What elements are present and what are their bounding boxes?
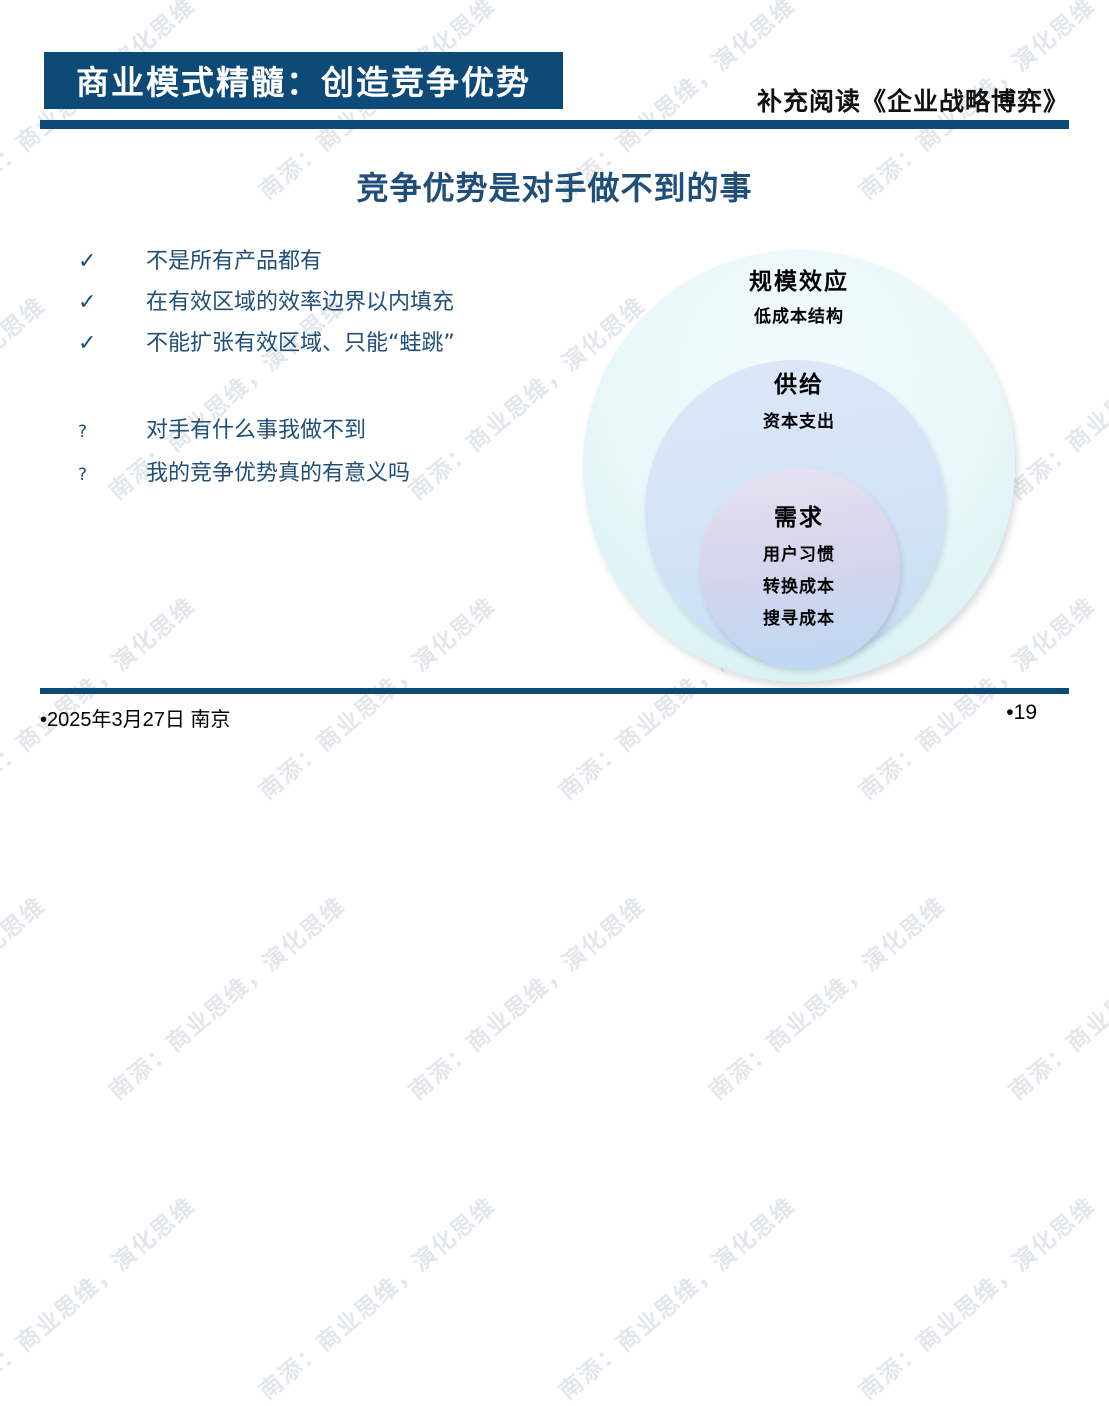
circle-supply-subtitle: 资本支出 xyxy=(583,407,1015,432)
slide-title-box: 商业模式精髓：创造竞争优势 xyxy=(44,52,563,109)
list-item: ? 我的竞争优势真的有意义吗 xyxy=(78,455,548,498)
watermark-text: 南添：商业思维，演化思维 xyxy=(850,1187,1102,1406)
watermark-text: 南添：商业思维，演化思维 xyxy=(0,587,202,806)
page-headline: 竞争优势是对手做不到的事 xyxy=(0,163,1109,209)
watermark-text: 南添：商业思维，演化思维 xyxy=(550,1187,802,1406)
circle-demand-title: 需求 xyxy=(583,498,1015,532)
slide-canvas: 南添：商业思维，演化思维南添：商业思维，演化思维南添：商业思维，演化思维南添：商… xyxy=(0,0,1109,764)
footer-date: •2025年3月27日 南京 xyxy=(40,703,230,732)
circle-demand-subtitle-3: 搜寻成本 xyxy=(583,604,1015,629)
circle-demand-subtitle-2: 转换成本 xyxy=(583,572,1015,597)
slide-title: 商业模式精髓：创造竞争优势 xyxy=(44,56,563,104)
footer-divider xyxy=(40,688,1069,694)
check-bullet-list: ✓ 不是所有产品都有 ✓ 在有效区域的效率边界以内填充 ✓ 不能扩张有效区域、只… xyxy=(78,243,548,366)
question-bullet-list: ? 对手有什么事我做不到 ? 我的竞争优势真的有意义吗 xyxy=(78,412,548,498)
page-number: •19 xyxy=(1006,701,1037,725)
check-icon: ✓ xyxy=(78,333,146,355)
list-item: ? 对手有什么事我做不到 xyxy=(78,412,548,455)
list-item: ✓ 不是所有产品都有 xyxy=(78,243,548,284)
list-item: ✓ 在有效区域的效率边界以内填充 xyxy=(78,284,548,325)
check-icon: ✓ xyxy=(78,251,146,273)
circle-scale-effect-subtitle: 低成本结构 xyxy=(583,302,1015,327)
question-mark-icon: ? xyxy=(78,467,146,484)
circle-supply-title: 供给 xyxy=(583,365,1015,399)
list-item-label: 不能扩张有效区域、只能“蛙跳” xyxy=(146,325,455,357)
header-divider xyxy=(40,120,1069,129)
watermark-text: 南添：商业思维，演化思维 xyxy=(250,1187,502,1406)
question-mark-icon: ? xyxy=(78,424,146,441)
watermark-text: 南添：商业思维，演化思维 xyxy=(250,587,502,806)
circle-scale-effect-title: 规模效应 xyxy=(583,262,1015,296)
watermark-text: 南添：商业思维，演化思维 xyxy=(100,887,352,1106)
supplement-reading-note: 补充阅读《企业战略博弈》 xyxy=(757,82,1069,118)
list-item-label: 我的竞争优势真的有意义吗 xyxy=(146,455,410,487)
watermark-text: 南添：商业思维，演化思维 xyxy=(1000,887,1109,1106)
watermark-text: 南添：商业思维，演化思维 xyxy=(0,1187,202,1406)
list-item-label: 在有效区域的效率边界以内填充 xyxy=(146,284,454,316)
watermark-text: 南添：商业思维，演化思维 xyxy=(0,887,52,1106)
list-item: ✓ 不能扩张有效区域、只能“蛙跳” xyxy=(78,325,548,366)
circle-demand-subtitle-1: 用户习惯 xyxy=(583,540,1015,565)
concentric-circles-diagram: 规模效应 低成本结构 供给 资本支出 需求 用户习惯 转换成本 搜寻成本 xyxy=(560,240,1030,690)
watermark-text: 南添：商业思维，演化思维 xyxy=(0,287,52,506)
watermark-text: 南添：商业思维，演化思维 xyxy=(700,887,952,1106)
list-item-label: 不是所有产品都有 xyxy=(146,243,322,275)
check-icon: ✓ xyxy=(78,292,146,314)
watermark-text: 南添：商业思维，演化思维 xyxy=(400,887,652,1106)
list-item-label: 对手有什么事我做不到 xyxy=(146,412,366,444)
